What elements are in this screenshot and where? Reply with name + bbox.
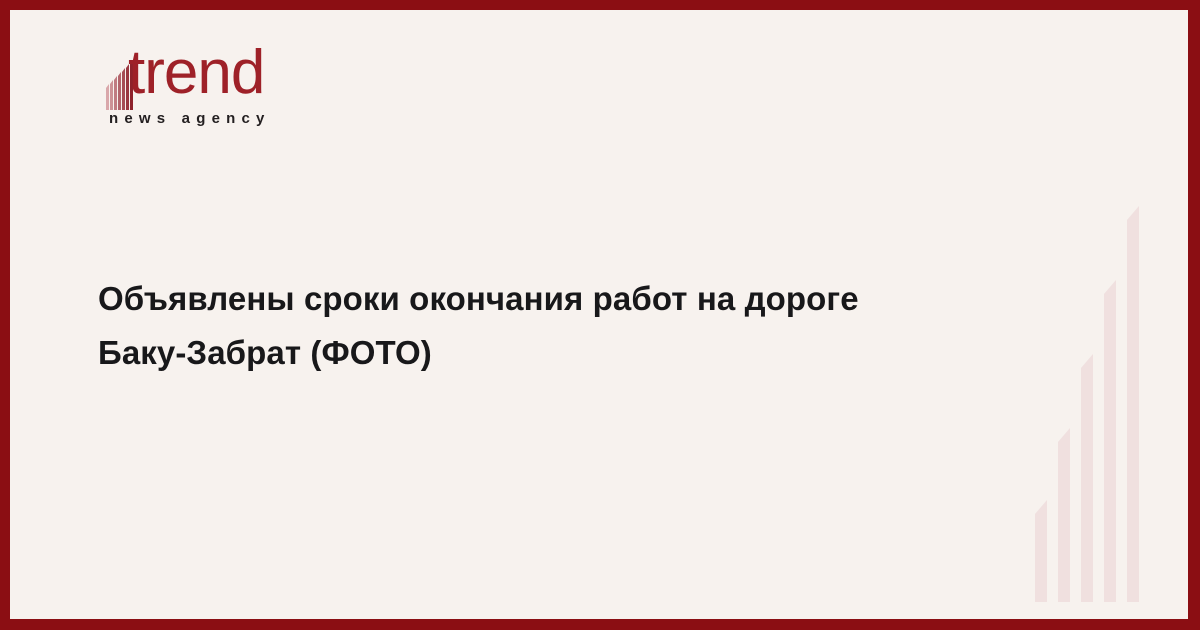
headline-line-2: Баку-Забрат (ФОТО) [98, 326, 998, 380]
site-logo[interactable]: trend news agency [98, 48, 358, 144]
ascending-bars-watermark [1025, 170, 1175, 602]
logo-wordmark: trend [128, 42, 264, 104]
card-canvas: trend news agency Объявлены сроки оконча… [10, 10, 1188, 619]
article-headline: Объявлены сроки окончания работ на дорог… [98, 272, 998, 380]
ascending-bars-icon [1025, 170, 1175, 602]
social-share-card: trend news agency Объявлены сроки оконча… [0, 0, 1200, 630]
logo-tagline: news agency [109, 110, 271, 127]
headline-line-1: Объявлены сроки окончания работ на дорог… [98, 272, 998, 326]
